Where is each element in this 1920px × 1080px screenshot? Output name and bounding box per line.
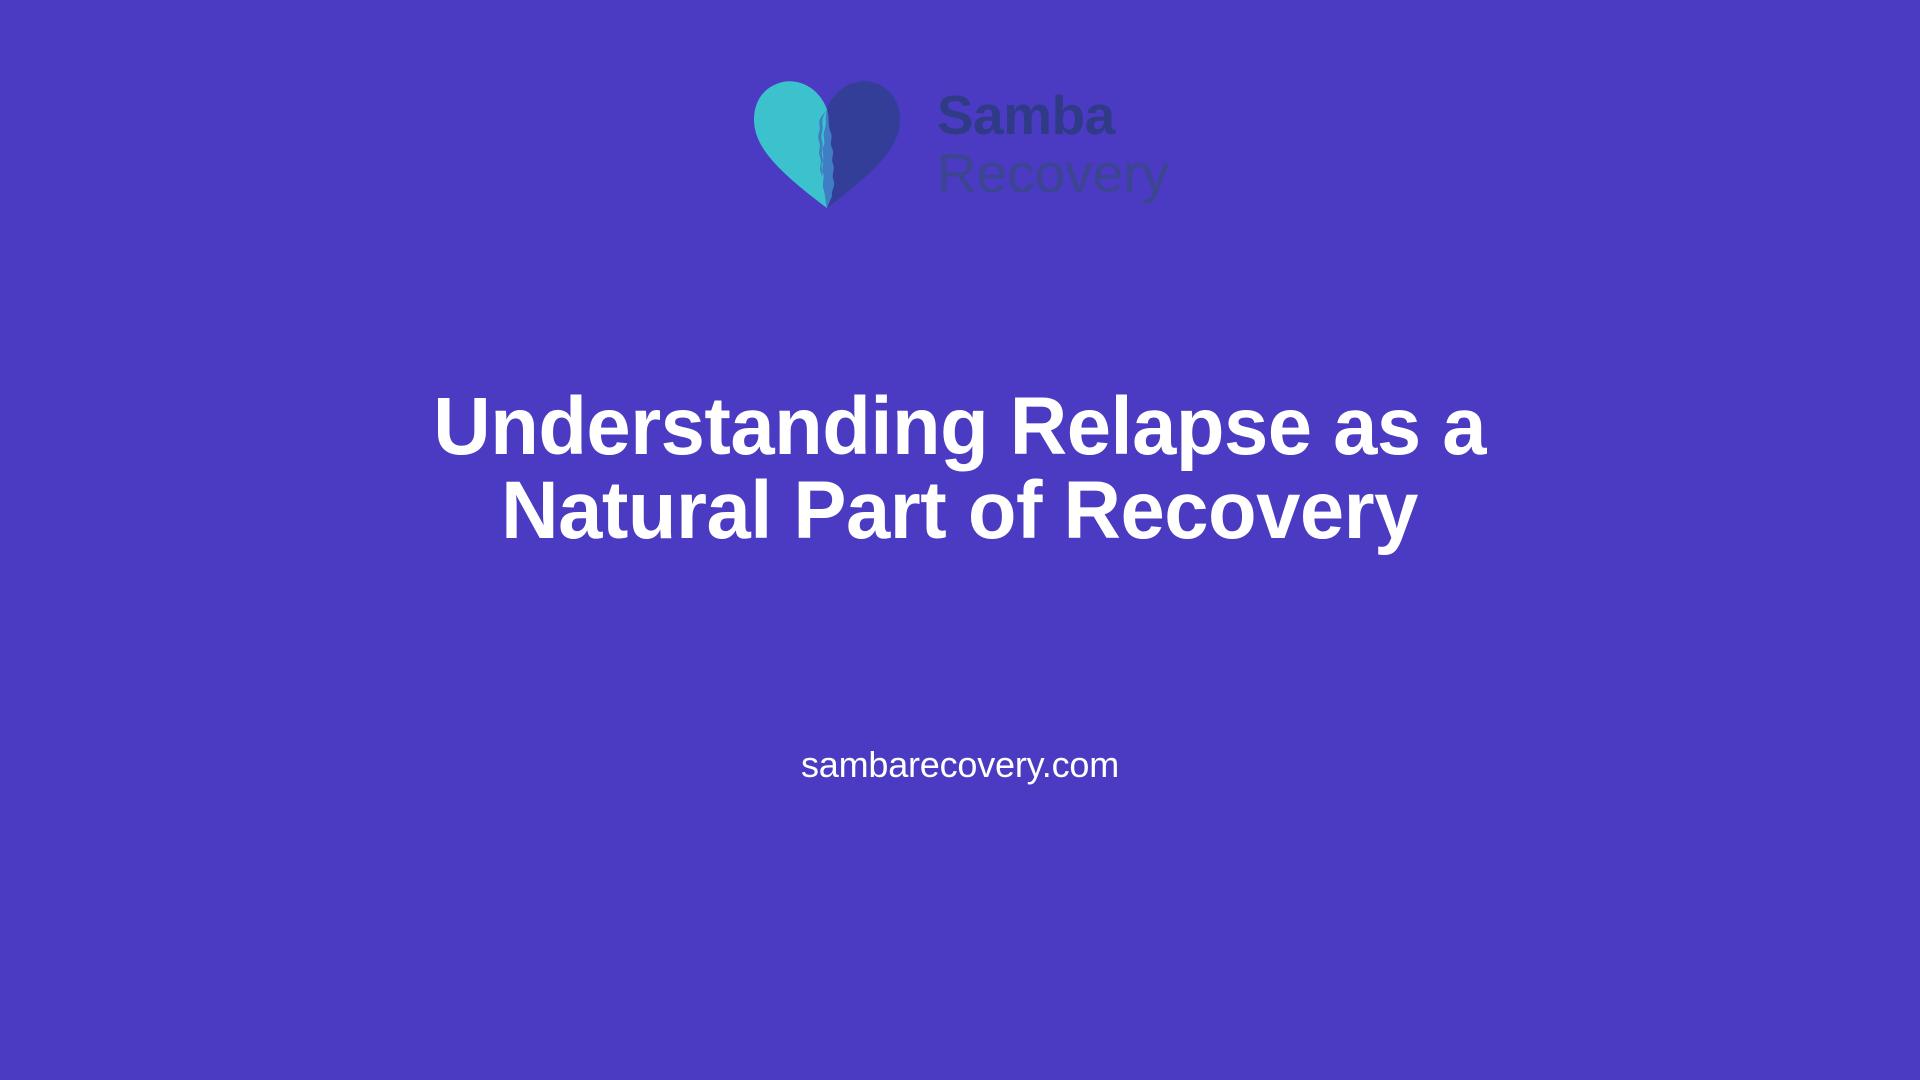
brand-name-primary: Samba (937, 87, 1115, 144)
split-heart-icon (751, 75, 903, 213)
brand-lockup: Samba Recovery (0, 74, 1920, 214)
headline-line-2: Natural Part of Recovery (502, 469, 1419, 553)
brand-wordmark: Samba Recovery (937, 87, 1169, 204)
page-title: Understanding Relapse as a Natural Part … (0, 385, 1920, 552)
heart-right-lobe-shape (827, 81, 900, 208)
site-url[interactable]: sambarecovery.com (0, 747, 1920, 783)
social-share-card: Samba Recovery Understanding Relapse as … (0, 0, 1920, 1080)
brand-name-secondary: Recovery (937, 144, 1169, 203)
headline-line-1: Understanding Relapse as a (434, 385, 1487, 469)
heart-left-lobe-shape (754, 81, 827, 208)
